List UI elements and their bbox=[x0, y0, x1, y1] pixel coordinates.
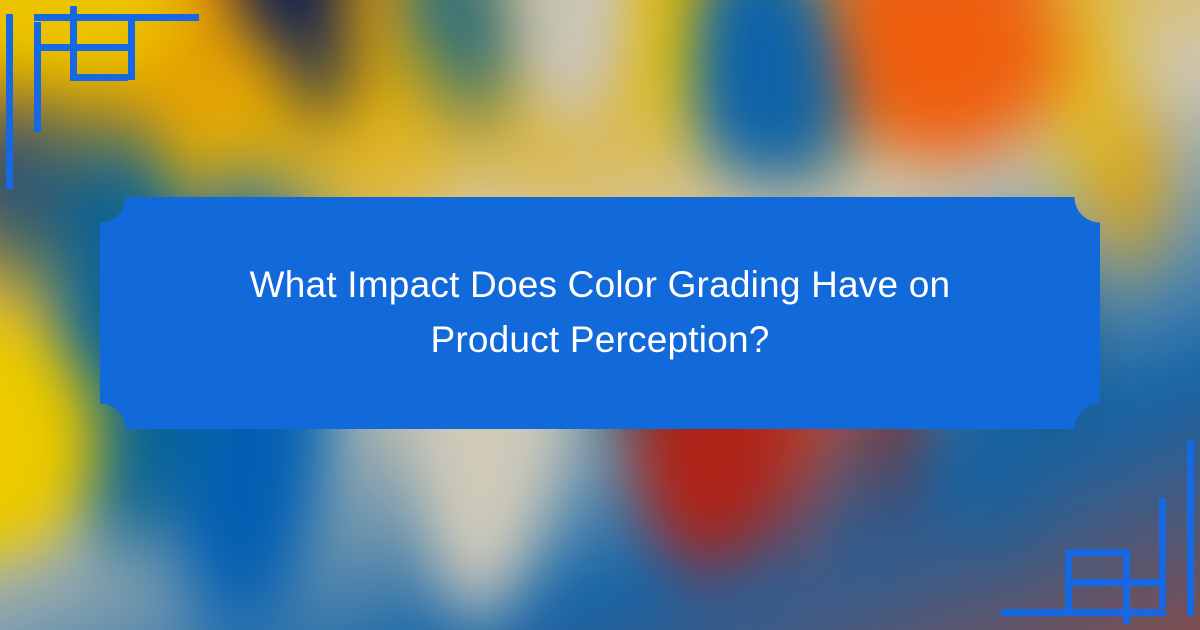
title-card: What Impact Does Color Grading Have on P… bbox=[100, 197, 1100, 429]
preview-card-canvas: What Impact Does Color Grading Have on P… bbox=[0, 0, 1200, 630]
page-title: What Impact Does Color Grading Have on P… bbox=[220, 258, 980, 368]
